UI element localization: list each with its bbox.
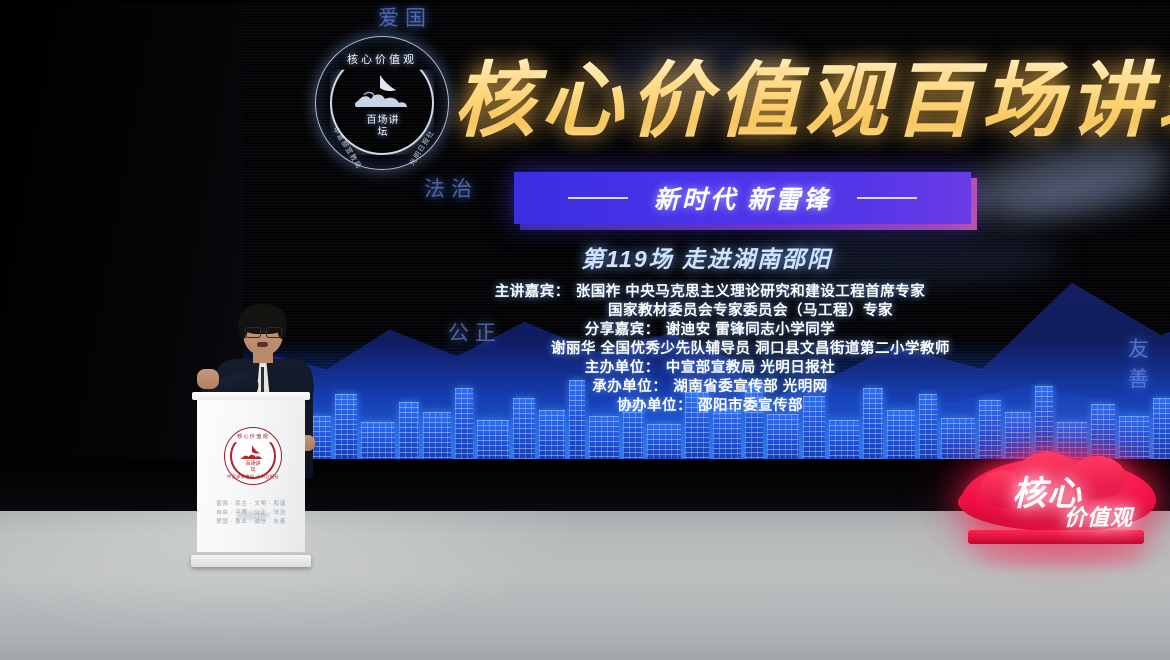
credit-row: 承办单位： 湖南省委宣传部 光明网	[585, 378, 828, 396]
banner-body: 新时代 新雷锋	[514, 172, 971, 224]
credit-row: 协办单位： 邵阳市委宣传部	[610, 397, 803, 415]
glasses-icon	[245, 327, 282, 336]
credits-block: 主讲嘉宾： 张国祚 中央马克思主义理论研究和建设工程首席专家 主讲嘉宾： 国家教…	[243, 283, 1170, 415]
speaker-mouth	[257, 342, 268, 347]
podium-emblem-top-text: 核心价值观	[225, 433, 281, 440]
dove-cloud-icon	[350, 71, 414, 115]
podium-values-line: 富强 · 民主 · 文明 · 和谐	[207, 500, 295, 509]
prop-text-bottom: 价值观	[1064, 500, 1133, 532]
podium-emblem-center-text: 百场讲坛	[245, 461, 261, 473]
credit-row: 主办单位： 中宣部宣教局 光明日报社	[578, 359, 836, 377]
credit-row: 主讲嘉宾： 国家教材委员会专家委员会（马工程）专家	[520, 302, 893, 320]
session-line: 第119场 走进湖南邵阳	[243, 240, 1170, 274]
credit-value: 湖南省委宣传部 光明网	[673, 378, 828, 396]
podium-ornament	[236, 511, 270, 520]
stage-top-shadow	[0, 0, 1170, 6]
red-cloud-prop: 核心 价值观	[960, 452, 1156, 552]
podium-emblem: 核心价值观 百场讲坛 中宣部宣教局 光明日报社	[224, 427, 282, 485]
banner-rule-left	[568, 197, 628, 199]
background-word-aiguo: 爱国	[378, 2, 432, 32]
credit-value: 谢丽华 全国优秀少先队辅导员 洞口县文昌街道第二小学教师	[551, 340, 950, 358]
led-screen: 爱国 法治 公正 友善 核心价值观 百场讲坛 中宣部宣教局 光明日报社 核心价值…	[243, 0, 1170, 460]
credit-value: 国家教材委员会专家委员会（马工程）专家	[608, 302, 893, 320]
credit-label: 分享嘉宾：	[578, 321, 660, 339]
prop-floor-glow	[976, 548, 1146, 566]
credit-value: 邵阳市委宣传部	[698, 397, 803, 415]
prop-base	[968, 530, 1144, 544]
podium-top	[192, 392, 310, 400]
emblem-center-text: 百场讲坛	[366, 115, 400, 139]
credit-label: 主办单位：	[578, 359, 660, 377]
slogan-banner: 新时代 新雷锋	[514, 172, 971, 224]
emblem-top-text: 核心价值观	[316, 51, 448, 67]
stage-scene: 爱国 法治 公正 友善 核心价值观 百场讲坛 中宣部宣教局 光明日报社 核心价值…	[0, 0, 1170, 660]
banner-rule-right	[857, 197, 917, 199]
credit-value: 张国祚 中央马克思主义理论研究和建设工程首席专家	[576, 283, 926, 301]
credit-row: 分享嘉宾： 谢丽华 全国优秀少先队辅导员 洞口县文昌街道第二小学教师	[463, 340, 950, 358]
mist-cloud-icon	[1001, 163, 1170, 226]
main-title: 核心价值观百场讲坛	[453, 34, 1170, 153]
speaker-left-hand	[197, 369, 219, 389]
credit-label: 承办单位：	[585, 378, 667, 396]
credit-value: 中宣部宣教局 光明日报社	[666, 359, 836, 377]
podium-body: 核心价值观 百场讲坛 中宣部宣教局 光明日报社 富强 · 民主 · 文明 · 和…	[197, 400, 305, 552]
slogan-text: 新时代 新雷锋	[654, 180, 831, 216]
credit-label: 协办单位：	[610, 397, 692, 415]
podium: 核心价值观 百场讲坛 中宣部宣教局 光明日报社 富强 · 民主 · 文明 · 和…	[192, 392, 310, 567]
event-emblem: 核心价值观 百场讲坛 中宣部宣教局 光明日报社	[315, 36, 449, 170]
background-word-fazhi: 法治	[424, 173, 478, 203]
credit-row: 主讲嘉宾： 张国祚 中央马克思主义理论研究和建设工程首席专家	[488, 283, 926, 301]
podium-emblem-bottom-text: 中宣部宣教局 光明日报社	[225, 474, 281, 480]
credit-row: 分享嘉宾： 谢迪安 雷锋同志小学同学	[578, 321, 836, 339]
credit-label: 主讲嘉宾：	[488, 283, 570, 301]
credit-value: 谢迪安 雷锋同志小学同学	[666, 321, 836, 339]
podium-base	[191, 555, 311, 567]
